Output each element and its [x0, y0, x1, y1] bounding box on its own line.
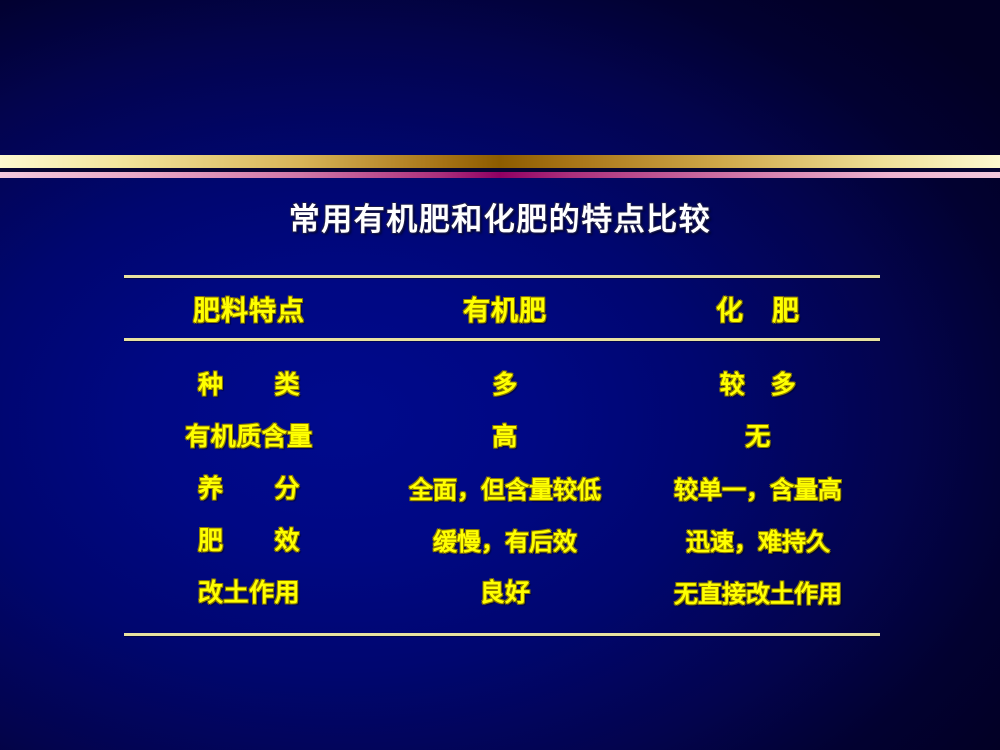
cell-chemical: 较 多 [636, 357, 880, 409]
cell-chemical: 迅速，难持久 [636, 513, 880, 565]
page-title: 常用有机肥和化肥的特点比较 [0, 194, 1000, 239]
table-row: 有机质含量 高 无 [124, 409, 880, 461]
header-cell-organic: 有机肥 [374, 278, 636, 338]
cell-feature: 种 类 [124, 357, 374, 409]
cell-organic: 全面，但含量较低 [374, 461, 636, 513]
table-row: 改土作用 良好 无直接改土作用 [124, 565, 880, 617]
gold-accent-bar [0, 155, 1000, 168]
cell-feature: 肥 效 [124, 513, 374, 565]
slide-canvas: 常用有机肥和化肥的特点比较 肥料特点 有机肥 化 肥 [0, 0, 1000, 750]
table-header-row: 肥料特点 有机肥 化 肥 [124, 278, 880, 338]
pink-accent-bar [0, 172, 1000, 178]
comparison-body: 种 类 多 较 多 有机质含量 高 无 养 分 全面，但含量较低 较单一，含量高… [124, 341, 880, 633]
table-rule-bottom [124, 633, 880, 636]
table-row: 肥 效 缓慢，有后效 迅速，难持久 [124, 513, 880, 565]
cell-chemical: 无 [636, 409, 880, 461]
cell-chemical: 较单一，含量高 [636, 461, 880, 513]
header-cell-chemical: 化 肥 [636, 278, 880, 338]
table-spacer-row [124, 341, 880, 357]
cell-feature: 养 分 [124, 461, 374, 513]
cell-organic: 缓慢，有后效 [374, 513, 636, 565]
table-row: 养 分 全面，但含量较低 较单一，含量高 [124, 461, 880, 513]
cell-organic: 高 [374, 409, 636, 461]
comparison-grid: 肥料特点 有机肥 化 肥 [124, 278, 880, 338]
cell-chemical: 无直接改土作用 [636, 565, 880, 617]
cell-organic: 多 [374, 357, 636, 409]
cell-feature: 有机质含量 [124, 409, 374, 461]
table-spacer-row-bottom [124, 617, 880, 633]
comparison-table: 肥料特点 有机肥 化 肥 种 类 [124, 275, 880, 636]
header-cell-feature: 肥料特点 [124, 278, 374, 338]
cell-organic: 良好 [374, 565, 636, 617]
table-row: 种 类 多 较 多 [124, 357, 880, 409]
cell-feature: 改土作用 [124, 565, 374, 617]
